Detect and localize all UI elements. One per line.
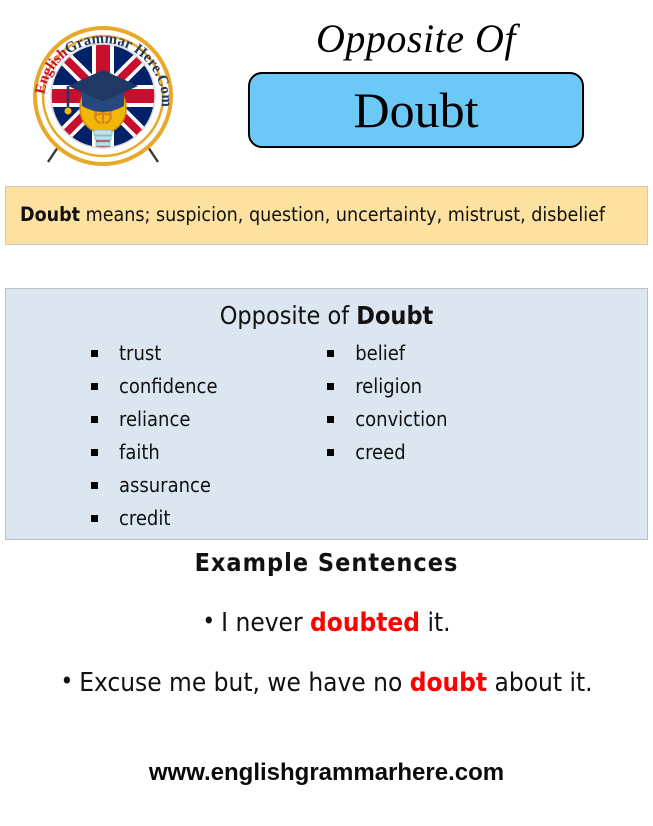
list-item-label: confidence (119, 374, 218, 398)
opposites-left-list: trust confidence reliance faith assuranc… (91, 337, 305, 535)
list-item-label: reliance (119, 407, 190, 431)
opposites-title: Opposite of Doubt (6, 299, 647, 333)
examples-title: Example Sentences (0, 546, 653, 580)
bullet-icon: • (202, 607, 215, 635)
bullet-icon: • (60, 667, 73, 695)
list-item-label: faith (119, 440, 160, 464)
opposites-columns: trust confidence reliance faith assuranc… (6, 337, 647, 535)
list-item: trust (91, 337, 305, 370)
list-item-label: credit (119, 506, 170, 530)
square-bullet-icon (91, 383, 98, 390)
list-item-label: conviction (355, 407, 447, 431)
meaning-box: Doubt means; suspicion, question, uncert… (5, 186, 648, 245)
sentence-highlight: doubt (410, 668, 487, 698)
title-block: Opposite Of Doubt (196, 14, 636, 148)
list-item: belief (327, 337, 647, 370)
square-bullet-icon (91, 449, 98, 456)
list-item-label: religion (355, 374, 422, 398)
headword-box: Doubt (248, 72, 584, 148)
sentence-after: it. (420, 608, 451, 638)
square-bullet-icon (327, 449, 334, 456)
list-item-label: trust (119, 341, 161, 365)
square-bullet-icon (91, 350, 98, 357)
list-item: confidence (91, 370, 305, 403)
square-bullet-icon (327, 383, 334, 390)
page-header: English Grammar Here.Com Opposite Of Dou… (0, 0, 653, 186)
list-item: faith (91, 436, 305, 469)
square-bullet-icon (91, 482, 98, 489)
page-footer: www.englishgrammarhere.com (0, 758, 653, 788)
meaning-synonyms: suspicion, question, uncertainty, mistru… (156, 203, 605, 226)
square-bullet-icon (91, 515, 98, 522)
list-item: assurance (91, 469, 305, 502)
headword: Doubt (354, 84, 479, 136)
example-sentence: •I never doubted it. (0, 606, 653, 640)
list-item: creed (327, 436, 647, 469)
opposites-right-column: belief religion conviction creed (305, 337, 647, 535)
list-item: religion (327, 370, 647, 403)
list-item-label: assurance (119, 473, 211, 497)
opposites-box: Opposite of Doubt trust confidence relia… (5, 288, 648, 540)
square-bullet-icon (327, 416, 334, 423)
meaning-text: Doubt means; suspicion, question, uncert… (20, 200, 633, 230)
list-item-label: creed (355, 440, 405, 464)
meaning-word: Doubt (20, 203, 80, 226)
list-item-label: belief (355, 341, 405, 365)
sentence-before: Excuse me but, we have no (79, 668, 410, 698)
opposites-title-prefix: Opposite of (220, 301, 357, 330)
sentence-highlight: doubted (310, 608, 420, 638)
sentence-before: I never (221, 608, 310, 638)
list-item: reliance (91, 403, 305, 436)
opposites-left-column: trust confidence reliance faith assuranc… (6, 337, 305, 535)
square-bullet-icon (91, 416, 98, 423)
meaning-connector: means; (80, 203, 156, 226)
square-bullet-icon (327, 350, 334, 357)
examples-section: Example Sentences •I never doubted it. •… (0, 546, 653, 700)
site-url[interactable]: www.englishgrammarhere.com (0, 758, 653, 788)
list-item: conviction (327, 403, 647, 436)
example-sentence: •Excuse me but, we have no doubt about i… (0, 666, 653, 700)
opposites-title-word: Doubt (356, 301, 433, 330)
list-item: credit (91, 502, 305, 535)
opposites-right-list: belief religion conviction creed (327, 337, 647, 469)
sentence-after: about it. (487, 668, 592, 698)
page-title: Opposite Of (196, 14, 636, 64)
english-grammar-here-logo: English Grammar Here.Com (22, 22, 184, 174)
